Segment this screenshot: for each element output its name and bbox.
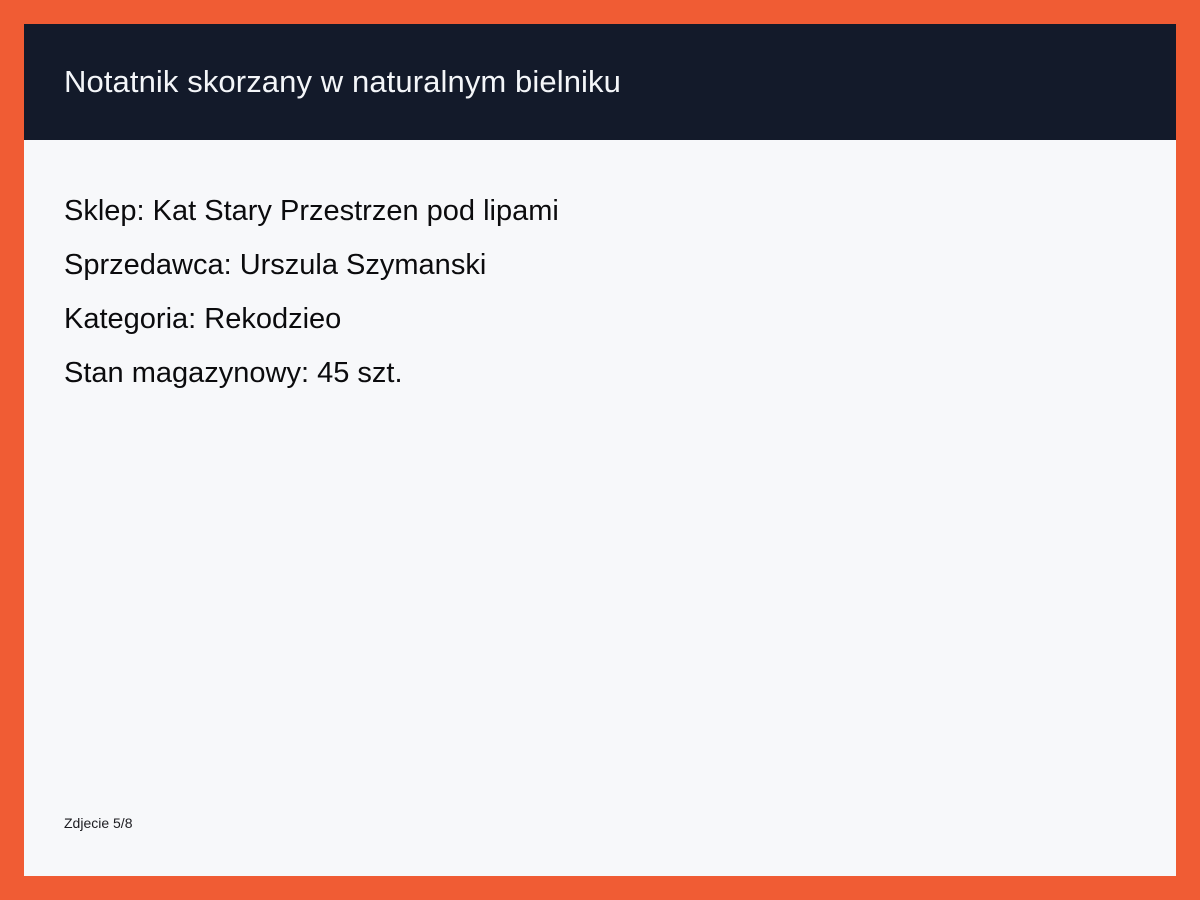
detail-line-sprzedawca: Sprzedawca: Urszula Szymanski xyxy=(64,238,1136,292)
photo-counter-caption: Zdjecie 5/8 xyxy=(64,815,132,832)
detail-line-kategoria: Kategoria: Rekodzieo xyxy=(64,292,1136,346)
product-card: Notatnik skorzany w naturalnym bielniku … xyxy=(24,24,1176,876)
slide-frame: Notatnik skorzany w naturalnym bielniku … xyxy=(0,0,1200,900)
card-body: Sklep: Kat Stary Przestrzen pod lipami S… xyxy=(24,140,1176,876)
product-detail-list: Sklep: Kat Stary Przestrzen pod lipami S… xyxy=(64,184,1136,400)
detail-line-stan-magazynowy: Stan magazynowy: 45 szt. xyxy=(64,346,1136,400)
page-title: Notatnik skorzany w naturalnym bielniku xyxy=(64,63,621,100)
card-header: Notatnik skorzany w naturalnym bielniku xyxy=(24,24,1176,140)
detail-line-sklep: Sklep: Kat Stary Przestrzen pod lipami xyxy=(64,184,1136,238)
